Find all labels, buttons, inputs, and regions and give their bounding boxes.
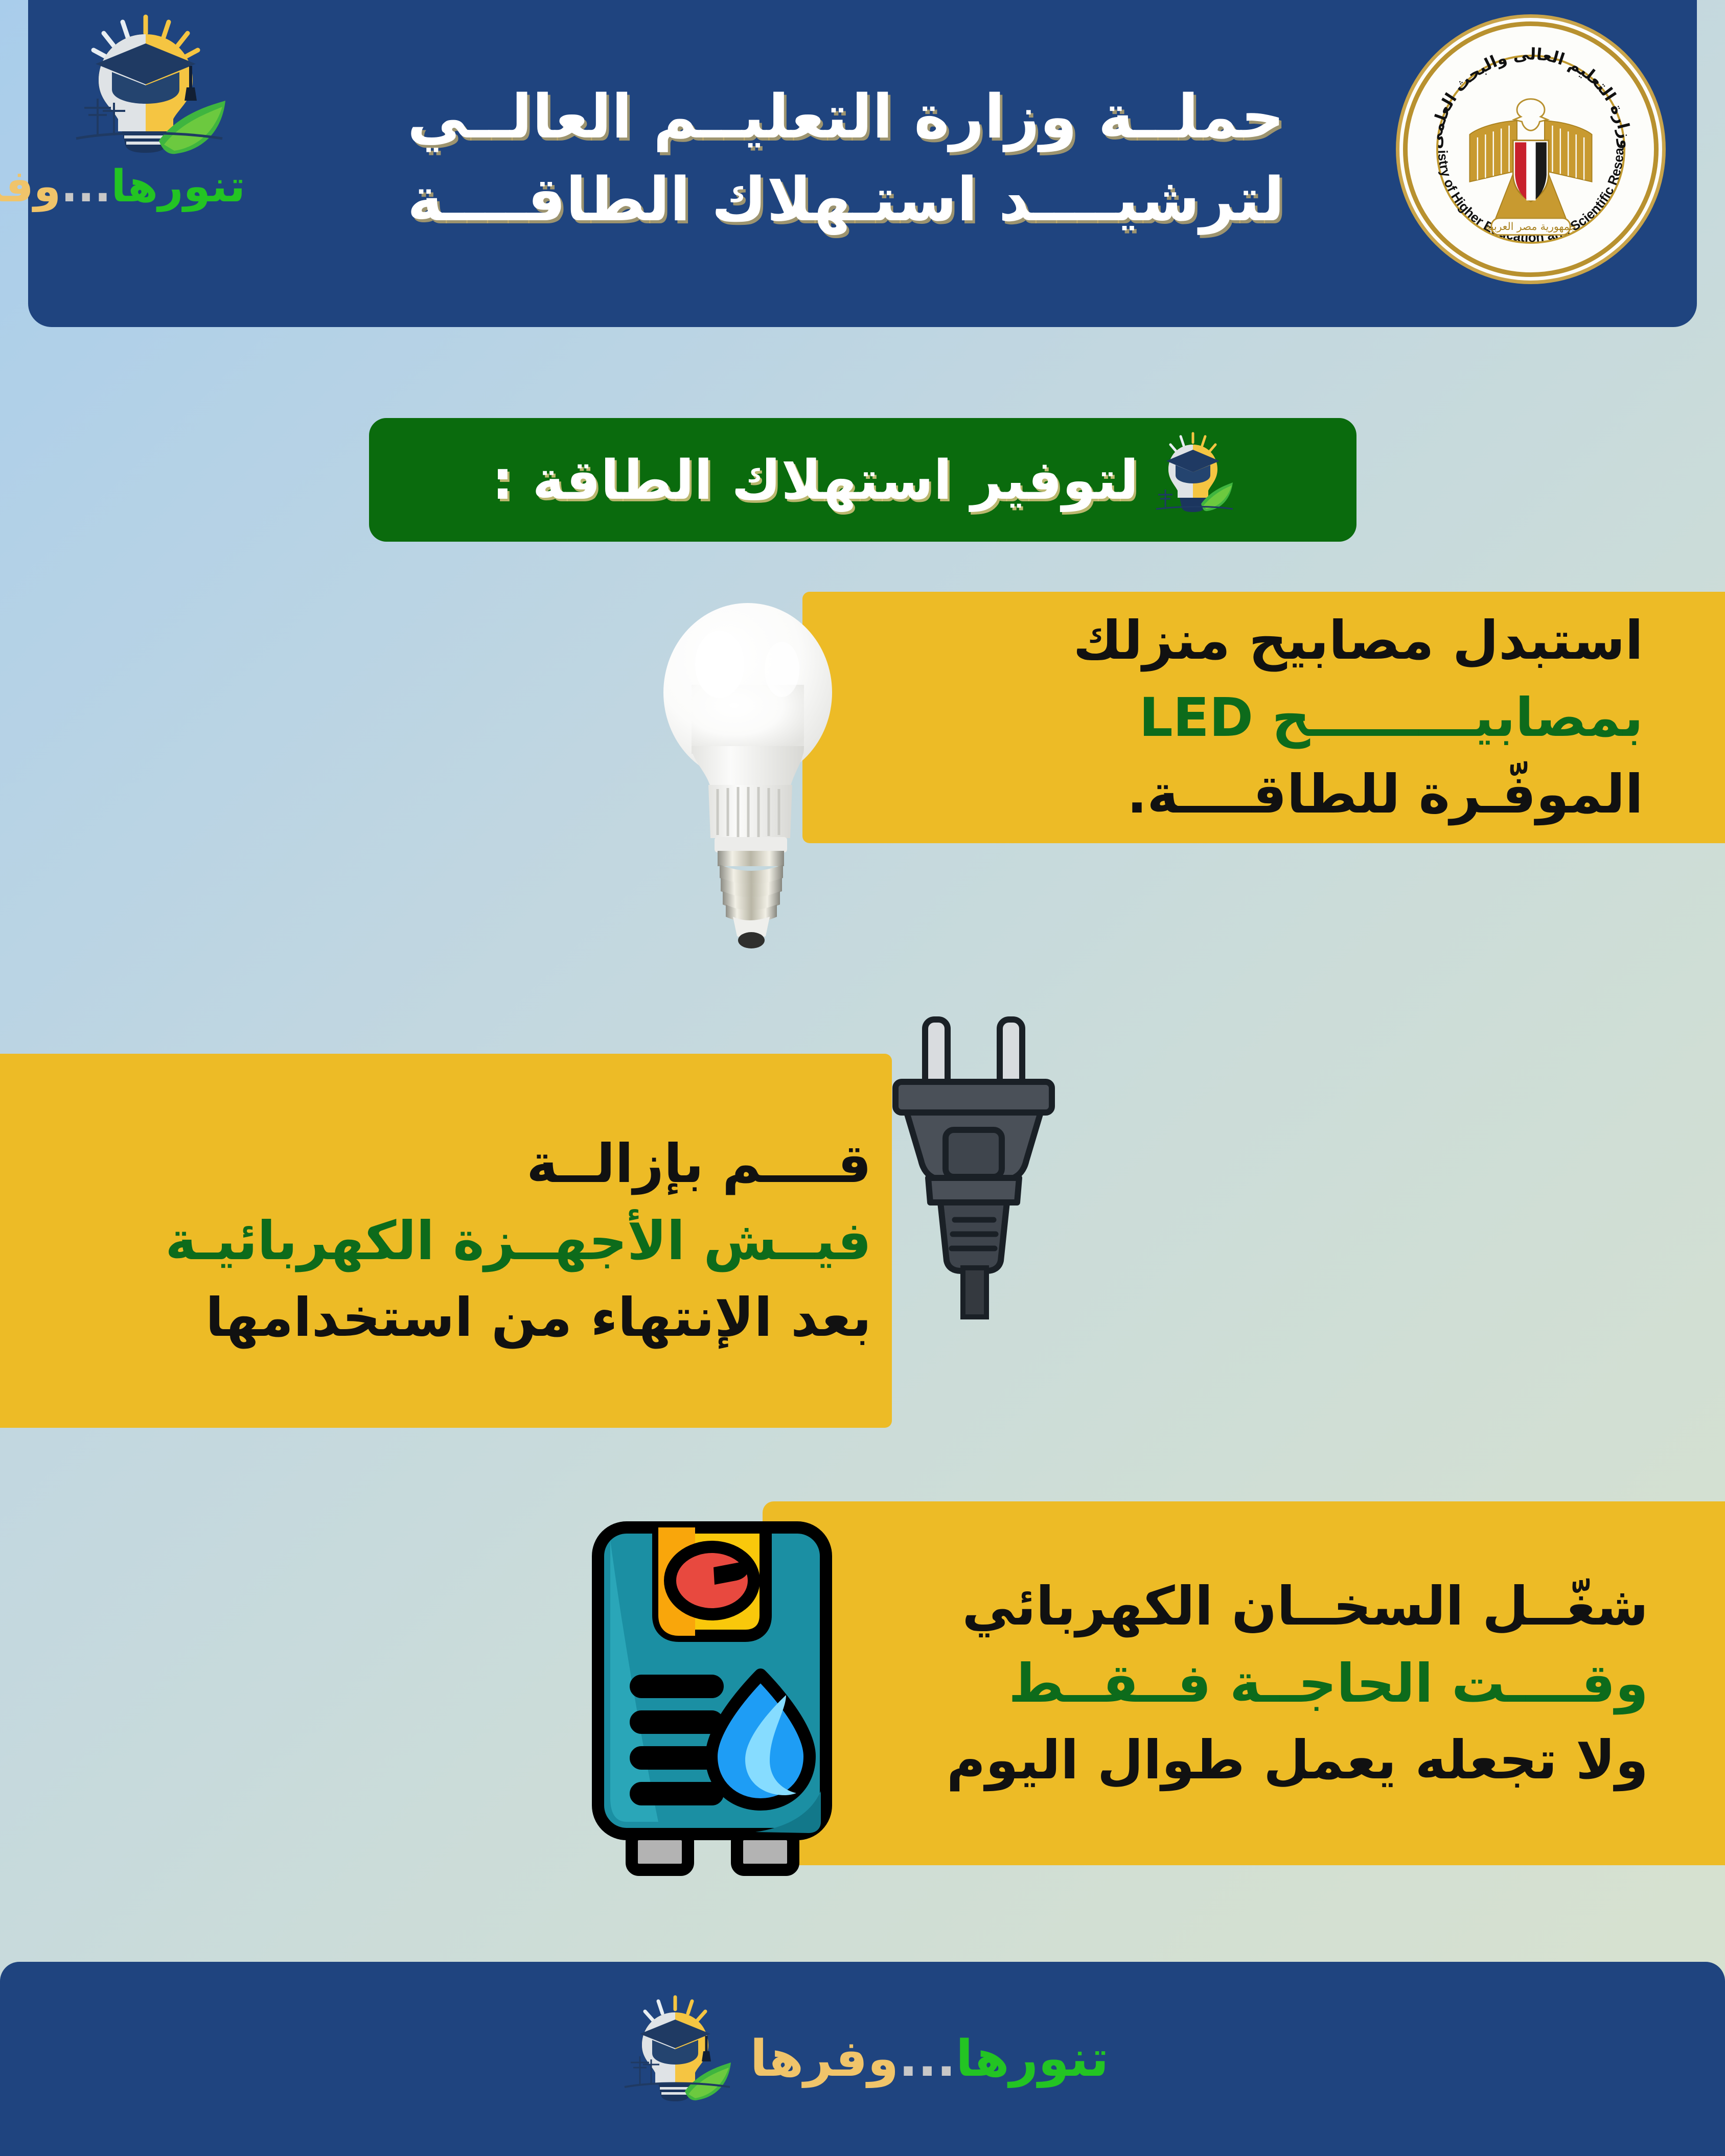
- power-plug-icon: [864, 1009, 1084, 1439]
- tip-line-highlight: وقــــت الحاجــة فــقــط: [1008, 1654, 1648, 1713]
- slogan-dots: ...: [899, 2030, 956, 2088]
- bulb-graduation-leaf-icon: [59, 13, 233, 161]
- tip-band-unplug-devices: قــــم بإزالــة فيــش الأجهــزة الكهربائ…: [0, 1054, 892, 1428]
- tip-line: الموفّـرة للطاقــــة.: [1127, 764, 1643, 824]
- electric-water-heater-icon: [587, 1515, 837, 1893]
- tip-water-heater-text: شغّــل السخــان الكهربائي وقــــت الحاجـ…: [763, 1577, 1669, 1790]
- slogan-dots: ...: [61, 161, 111, 212]
- section-heading-text: لتوفير استهلاك الطاقة :: [492, 449, 1139, 512]
- slogan-suffix: تنورها: [956, 2030, 1109, 2088]
- tip-line: ولا تجعله يعمل طوال اليوم: [947, 1730, 1648, 1790]
- tip-line: شغّــل السخــان الكهربائي: [962, 1577, 1648, 1636]
- tip-band-led-lamps: استبدل مصابيح منزلك بمصابيـــــــــح LED…: [802, 592, 1725, 843]
- header-title-line-1: حملــة وزارة التعليــم العالــي: [407, 85, 1284, 149]
- campaign-slogan-header: تنورها...وفرها: [46, 161, 245, 212]
- section-heading-banner: لتوفير استهلاك الطاقة :: [369, 418, 1356, 542]
- tip-line: استبدل مصابيح منزلك: [1073, 611, 1643, 670]
- led-bulb-photo: [643, 583, 858, 971]
- footer-band: تنورها...وفرها: [0, 1962, 1725, 2156]
- energy-saving-infographic: تنورها...وفرها حملــة وزارة التعليــم ال…: [0, 0, 1725, 2156]
- campaign-bulb-logo: [59, 13, 233, 161]
- seal-inner-ring: [1436, 55, 1625, 244]
- campaign-bulb-logo: [616, 1995, 734, 2123]
- tip-led-lamps-text: استبدل مصابيح منزلك بمصابيـــــــــح LED…: [802, 611, 1664, 824]
- ministry-seal: وزارة التعليم العالى والبحث العلمى Minis…: [1403, 21, 1659, 277]
- tip-line: قــــم بإزالــة: [526, 1134, 871, 1193]
- tip-line-highlight: فيــش الأجهــزة الكهربائيـة: [165, 1211, 871, 1270]
- campaign-bulb-logo-small: [1152, 431, 1234, 528]
- banner-bulb-icon: [1152, 431, 1234, 528]
- tip-unplug-devices-text: قــــم بإزالــة فيــش الأجهــزة الكهربائ…: [31, 1134, 892, 1347]
- slogan-suffix: تنورها: [111, 161, 245, 212]
- slogan-prefix: وفرها: [0, 161, 61, 212]
- campaign-slogan-footer: تنورها...وفرها: [750, 2034, 1109, 2084]
- page-title: حملــة وزارة التعليــم العالــي لترشيـــ…: [378, 49, 1314, 268]
- water-heater-icon: [587, 1515, 837, 1893]
- slogan-prefix: وفرها: [750, 2030, 899, 2088]
- electric-plug-icon: [864, 1009, 1084, 1439]
- led-bulb-icon: [643, 583, 858, 971]
- tip-line: بعد الإنتهاء من استخدامها: [205, 1288, 871, 1347]
- header-title-line-2: لترشيــــد استـهلاك الطاقــــة: [407, 168, 1285, 231]
- bulb-graduation-leaf-icon: [616, 1995, 734, 2123]
- tip-line-highlight: بمصابيـــــــــح LED: [1139, 688, 1643, 747]
- tip-band-water-heater: شغّــل السخــان الكهربائي وقــــت الحاجـ…: [763, 1501, 1725, 1865]
